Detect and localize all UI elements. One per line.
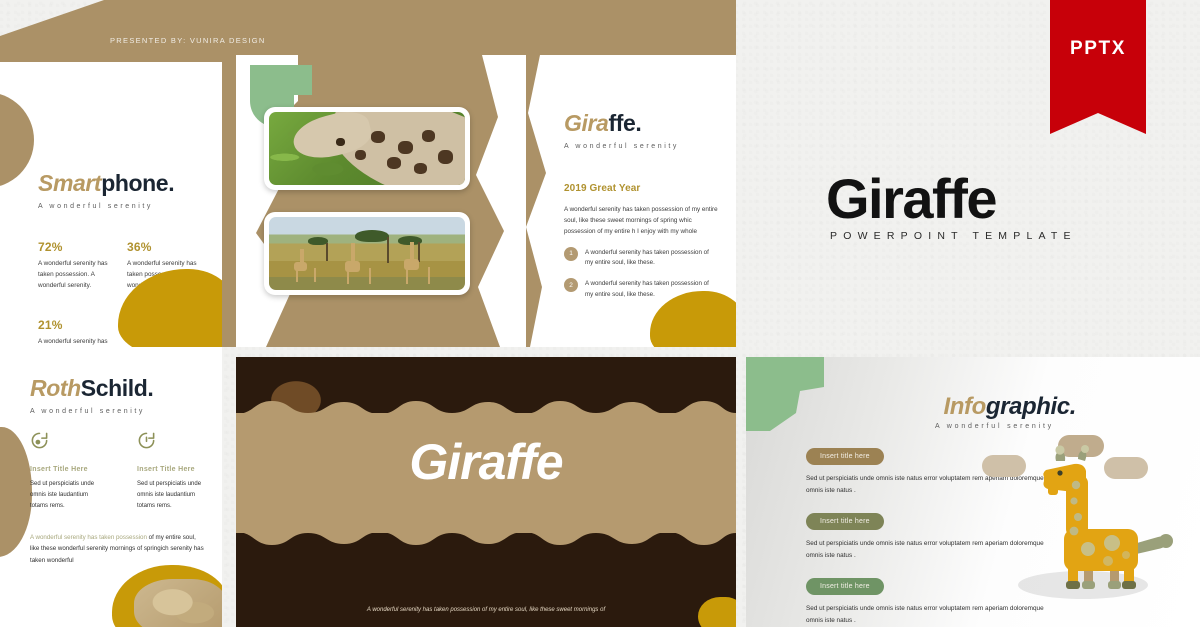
giraffe-subtitle: A wonderful serenity (564, 143, 679, 150)
giraffe-title-part2: ffe. (608, 110, 641, 136)
rothschild-title-part2: Schild. (81, 375, 154, 401)
feature-text: Sed ut perspiciatis unde omnis iste laud… (30, 479, 101, 512)
stat-text: A wonderful serenity has taken possessio… (38, 336, 117, 347)
slide-photos[interactable] (236, 55, 526, 347)
infographic-title-part2: graphic. (986, 393, 1076, 420)
numbered-bullet: 1 A wonderful serenity has taken possess… (564, 247, 718, 270)
tan-circle-decoration (0, 92, 34, 188)
section-paragraph: A wonderful serenity has taken possessio… (564, 204, 718, 238)
giraffe-closeup-image (269, 112, 465, 185)
refresh-circle-icon (30, 437, 49, 454)
section-heading: 2019 Great Year (564, 183, 718, 194)
clock-circle-icon (137, 437, 156, 454)
insert-title-pill[interactable]: Insert title here (806, 448, 884, 465)
stat-value: 72% (38, 240, 117, 254)
smartphone-title-part2: phone. (101, 170, 174, 196)
footer-highlight: A wonderful serenity has taken possessio… (30, 534, 147, 541)
giraffe-title-part1: Gira (564, 110, 608, 136)
stat-item: 21% A wonderful serenity has taken posse… (38, 318, 117, 347)
green-corner-decoration (746, 357, 824, 431)
feature-text: Sed ut perspiciatis unde omnis iste laud… (137, 479, 208, 512)
photo-card-giraffe-closeup[interactable] (264, 107, 470, 190)
feature-item: Insert Title Here Sed ut perspiciatis un… (137, 431, 208, 512)
giraffe-illustration (1012, 433, 1190, 609)
slide-giraffe-banner[interactable]: Giraffe A wonderful serenity has taken p… (236, 357, 736, 627)
stat-text: A wonderful serenity has taken possessio… (38, 258, 117, 292)
slide-infographic[interactable]: Infographic. A wonderful serenity Insert… (746, 357, 1200, 627)
wave-top-edge (236, 399, 736, 414)
giraffe-savanna-image (269, 217, 465, 290)
stat-value: 21% (38, 318, 117, 332)
poster-canvas: PRESENTED BY: VUNIRA DESIGN Smartphone. … (0, 0, 1200, 627)
banner-title: Giraffe (236, 433, 736, 491)
banner-caption: A wonderful serenity has taken possessio… (236, 607, 736, 613)
presented-by-label: PRESENTED BY: VUNIRA DESIGN (110, 36, 266, 45)
pptx-ribbon-badge: PPTX (1050, 0, 1146, 112)
rothschild-footer: A wonderful serenity has taken possessio… (30, 532, 206, 566)
infographic-subtitle: A wonderful serenity (935, 423, 1054, 430)
feature-title: Insert Title Here (30, 466, 101, 473)
white-wave-right (474, 55, 526, 347)
stat-item: 72% A wonderful serenity has taken posse… (38, 240, 117, 292)
rothschild-heading: RothSchild. A wonderful serenity (30, 375, 153, 415)
smartphone-heading: Smartphone. A wonderful serenity (38, 170, 174, 210)
wave-bottom-edge (236, 532, 736, 547)
rothschild-subtitle: A wonderful serenity (30, 408, 153, 415)
tan-wave-left (526, 55, 548, 347)
bullet-number: 2 (564, 278, 578, 292)
slide-rothschild[interactable]: RothSchild. A wonderful serenity Insert … (0, 347, 222, 627)
insert-title-pill[interactable]: Insert title here (806, 578, 884, 595)
feature-item: Insert Title Here Sed ut perspiciatis un… (30, 431, 101, 512)
bullet-number: 1 (564, 247, 578, 261)
slide-smartphone[interactable]: Smartphone. A wonderful serenity 72% A w… (0, 62, 222, 347)
hero-subtitle: POWERPOINT TEMPLATE (830, 230, 1077, 242)
insert-title-pill[interactable]: Insert title here (806, 513, 884, 530)
pptx-badge-label: PPTX (1050, 38, 1146, 60)
stat-value: 36% (127, 240, 206, 254)
hero-title: Giraffe (826, 166, 996, 231)
smartphone-subtitle: A wonderful serenity (38, 203, 174, 210)
smartphone-title-part1: Smart (38, 170, 101, 196)
slide-giraffe-text[interactable]: Giraffe. A wonderful serenity 2019 Great… (526, 55, 736, 347)
infographic-title-part1: Info (943, 393, 985, 420)
giraffe-head-photo (134, 579, 222, 627)
gold-corner-decoration (698, 597, 736, 627)
photo-card-giraffe-savanna[interactable] (264, 212, 470, 295)
rothschild-title-part1: Roth (30, 375, 81, 401)
feature-row: Insert Title Here Sed ut perspiciatis un… (30, 431, 208, 512)
tan-blob-decoration (0, 427, 32, 557)
feature-title: Insert Title Here (137, 466, 208, 473)
giraffe-heading: Giraffe. A wonderful serenity (564, 110, 679, 150)
infographic-heading: Infographic. (943, 393, 1076, 421)
bullet-text: A wonderful serenity has taken possessio… (585, 247, 718, 270)
giraffe-vector (1012, 433, 1190, 609)
